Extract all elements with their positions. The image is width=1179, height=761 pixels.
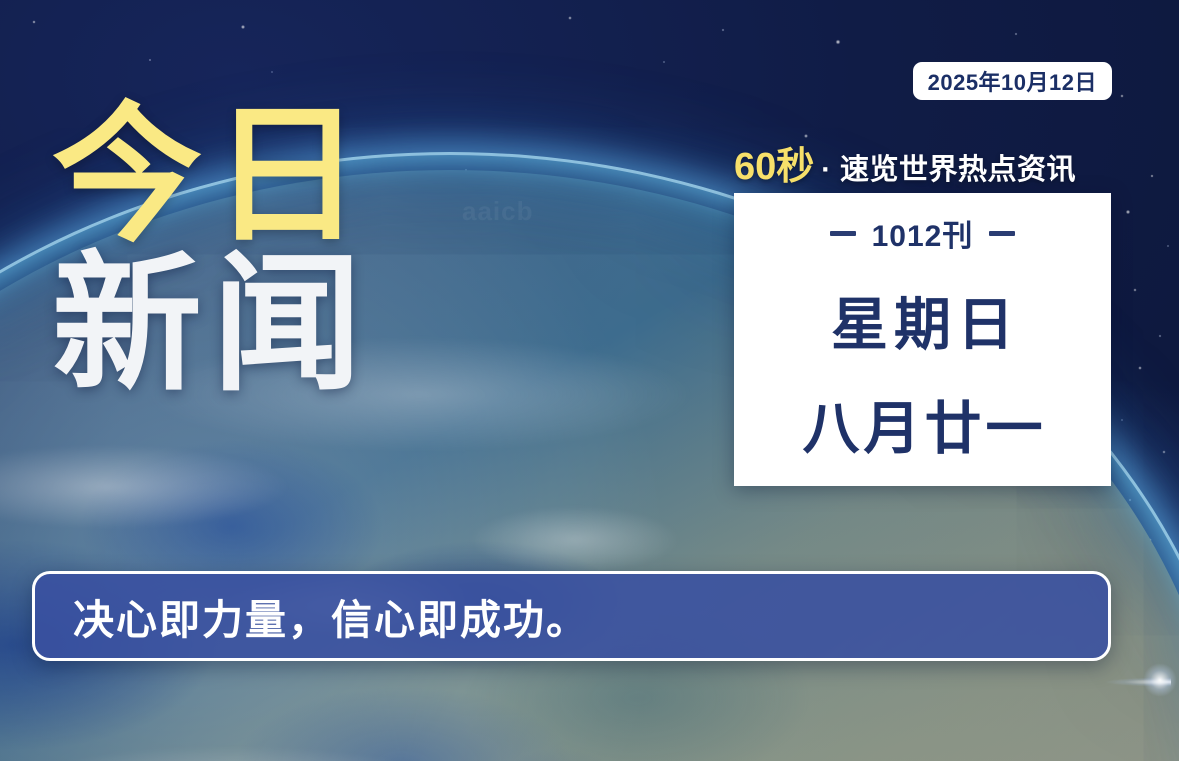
masthead-title-secondary: 新闻	[52, 253, 372, 396]
background-watermark: aaicb	[462, 196, 534, 227]
date-badge: 2025年10月12日	[913, 62, 1112, 100]
right-column: 60秒 · 速览世界热点资讯 1012刊 星期日 八月廿一	[734, 135, 1111, 486]
issue-number-label: 1012刊	[872, 211, 974, 255]
masthead-title-primary: 今日	[52, 104, 372, 247]
dash-left-icon	[830, 231, 856, 236]
masthead: 今日 新闻	[52, 104, 372, 395]
tagline-highlight: 60秒	[734, 135, 814, 190]
info-card: 1012刊 星期日 八月廿一	[734, 193, 1111, 486]
issue-row: 1012刊	[830, 211, 1016, 255]
quote-text: 决心即力量，信心即成功。	[73, 586, 589, 646]
tagline: 60秒 · 速览世界热点资讯	[734, 135, 1111, 187]
lunar-date-label: 八月廿一	[799, 383, 1047, 465]
weekday-label: 星期日	[825, 279, 1020, 361]
bright-star-icon	[1143, 663, 1177, 697]
quote-bar: 决心即力量，信心即成功。	[32, 571, 1111, 661]
news-poster: aaicb 2025年10月12日 今日 新闻 60秒 · 速览世界热点资讯 1…	[0, 0, 1179, 761]
tagline-rest: · 速览世界热点资讯	[821, 146, 1076, 188]
dash-right-icon	[989, 231, 1015, 236]
